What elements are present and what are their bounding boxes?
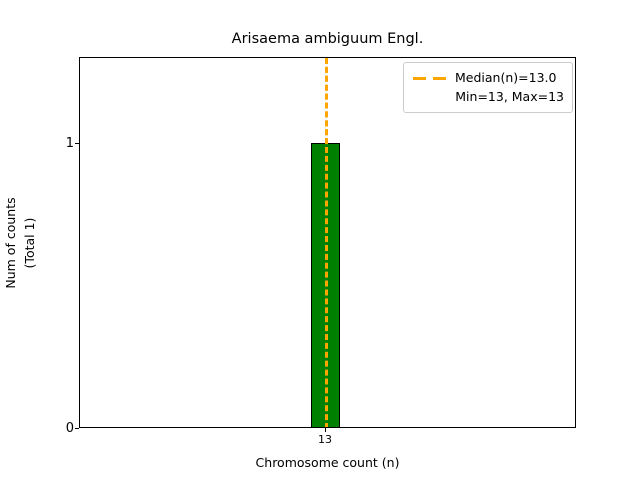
xtick-mark-13 xyxy=(325,428,326,432)
legend-entry-minmax: Min=13, Max=13 xyxy=(412,87,564,106)
x-axis-label: Chromosome count (n) xyxy=(79,455,576,470)
ytick-mark-0 xyxy=(75,428,79,429)
legend-label-median: Median(n)=13.0 xyxy=(455,70,556,85)
ytick-labels: 0 1 xyxy=(58,57,74,428)
chart-title: Arisaema ambiguum Engl. xyxy=(79,30,576,48)
dashed-line-icon xyxy=(412,72,448,84)
median-line-overlay xyxy=(325,58,328,428)
y-axis-label-wrap: Num of counts (Total 1) xyxy=(0,57,40,428)
ytick-label-0: 0 xyxy=(66,422,74,435)
legend-label-minmax: Min=13, Max=13 xyxy=(455,89,564,104)
xtick-labels: 13 xyxy=(79,434,576,448)
chart-figure: Arisaema ambiguum Engl. 0 1 13 Chromosom… xyxy=(0,0,640,480)
legend-entry-median: Median(n)=13.0 xyxy=(412,68,564,87)
y-axis-label-line-1: Num of counts xyxy=(1,197,20,288)
xtick-label-13: 13 xyxy=(318,434,332,445)
ytick-label-1: 1 xyxy=(66,137,74,150)
y-axis-label-line-2: (Total 1) xyxy=(20,197,39,288)
ytick-mark-1 xyxy=(75,143,79,144)
legend: Median(n)=13.0 Min=13, Max=13 xyxy=(403,62,573,113)
y-axis-label: Num of counts (Total 1) xyxy=(1,197,39,288)
